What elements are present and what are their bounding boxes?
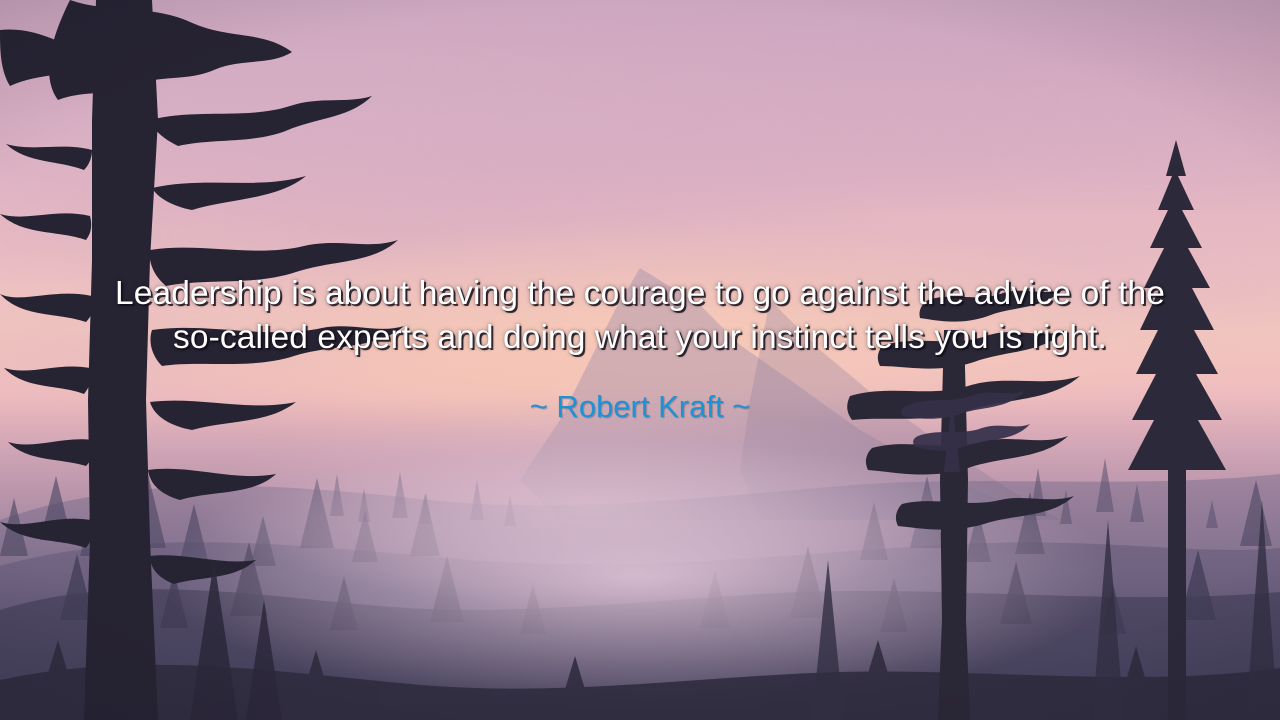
quote-author: ~ Robert Kraft ~ <box>0 388 1280 426</box>
quote-block: Leadership is about having the courage t… <box>0 272 1280 426</box>
quote-image: Leadership is about having the courage t… <box>0 0 1280 720</box>
quote-text: Leadership is about having the courage t… <box>110 272 1170 360</box>
